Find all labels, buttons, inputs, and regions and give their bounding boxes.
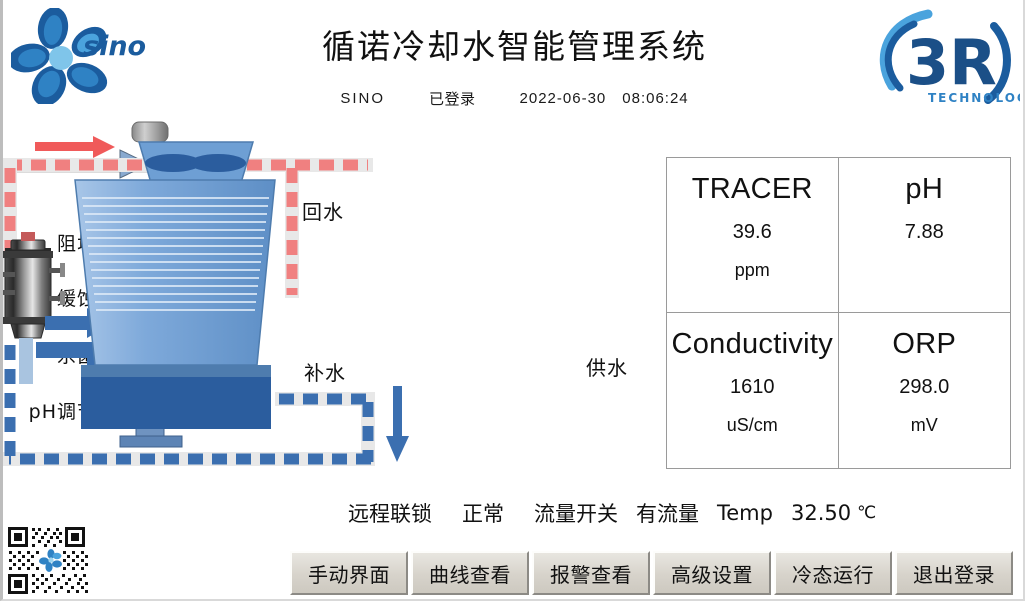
measurement-label: pH <box>905 172 943 207</box>
nav-button-bar: 手动界面 曲线查看 报警查看 高级设置 冷态运行 退出登录 <box>290 551 1013 595</box>
tower-shell <box>75 180 275 365</box>
button-logout[interactable]: 退出登录 <box>895 551 1013 595</box>
button-manual-screen[interactable]: 手动界面 <box>290 551 408 595</box>
measurement-orp[interactable]: ORP 298.0 mV <box>839 313 1011 468</box>
flow-switch-value: 有流量 <box>636 498 699 528</box>
return-flow-arrow <box>35 136 115 158</box>
header-bar: sino 循诺冷却水智能管理系统 SINO 已登录 2022-06-30 08:… <box>3 0 1025 120</box>
process-diagram <box>3 120 663 480</box>
measurement-value: 39.6 <box>733 221 772 244</box>
label-supply-water: 供水 <box>586 352 628 381</box>
button-trend-view[interactable]: 曲线查看 <box>411 551 529 595</box>
fan-blade-right <box>190 154 246 172</box>
heat-exchanger-vessel[interactable] <box>3 232 65 384</box>
logged-user: SINO <box>340 90 385 107</box>
measurement-ph[interactable]: pH 7.88 <box>839 158 1011 313</box>
temp-unit: ℃ <box>857 503 876 523</box>
hmi-screen: sino 循诺冷却水智能管理系统 SINO 已登录 2022-06-30 08:… <box>0 0 1025 601</box>
button-alarm-view[interactable]: 报警查看 <box>532 551 650 595</box>
button-cold-start[interactable]: 冷态运行 <box>774 551 892 595</box>
qr-code[interactable] <box>5 524 101 598</box>
supply-flow-arrow <box>386 386 409 462</box>
3r-tagline: TECHNOLOGY <box>928 91 1020 105</box>
system-date: 2022-06-30 <box>520 90 607 107</box>
system-time: 08:06:24 <box>622 90 688 107</box>
tower-fill-louvers <box>82 198 269 310</box>
measurement-unit: ppm <box>735 260 770 281</box>
button-advanced-setup[interactable]: 高级设置 <box>653 551 771 595</box>
temp-value: 32.50 <box>791 501 851 525</box>
interlock-label: 远程联锁 <box>348 498 432 528</box>
measurement-label: ORP <box>892 327 956 362</box>
status-strip: 远程联锁 正常 流量开关 有流量 Temp 32.50 ℃ <box>348 496 1013 530</box>
3r-technology-logo: 3R TECHNOLOGY <box>870 4 1020 114</box>
measurement-panel: TRACER 39.6 ppm pH 7.88 Conductivity 161… <box>666 157 1011 469</box>
flow-switch-label: 流量开关 <box>534 498 618 528</box>
measurement-tracer[interactable]: TRACER 39.6 ppm <box>667 158 839 313</box>
measurement-value: 298.0 <box>899 376 949 399</box>
login-status: 已登录 <box>429 88 476 109</box>
measurement-label: TRACER <box>692 172 813 207</box>
interlock-value: 正常 <box>462 498 504 528</box>
measurement-label: Conductivity <box>671 327 833 362</box>
label-return-water: 回水 <box>302 196 344 225</box>
measurement-value: 7.88 <box>905 221 944 244</box>
cooling-tower <box>75 142 275 429</box>
measurement-unit: uS/cm <box>727 415 778 436</box>
measurement-conductivity[interactable]: Conductivity 1610 uS/cm <box>667 313 839 468</box>
label-makeup-water: 补水 <box>304 357 346 386</box>
measurement-unit: mV <box>911 415 938 436</box>
3r-wordmark: 3R <box>906 26 997 99</box>
measurement-value: 1610 <box>730 376 775 399</box>
temp-label: Temp <box>717 501 773 525</box>
tower-basin <box>81 377 271 429</box>
